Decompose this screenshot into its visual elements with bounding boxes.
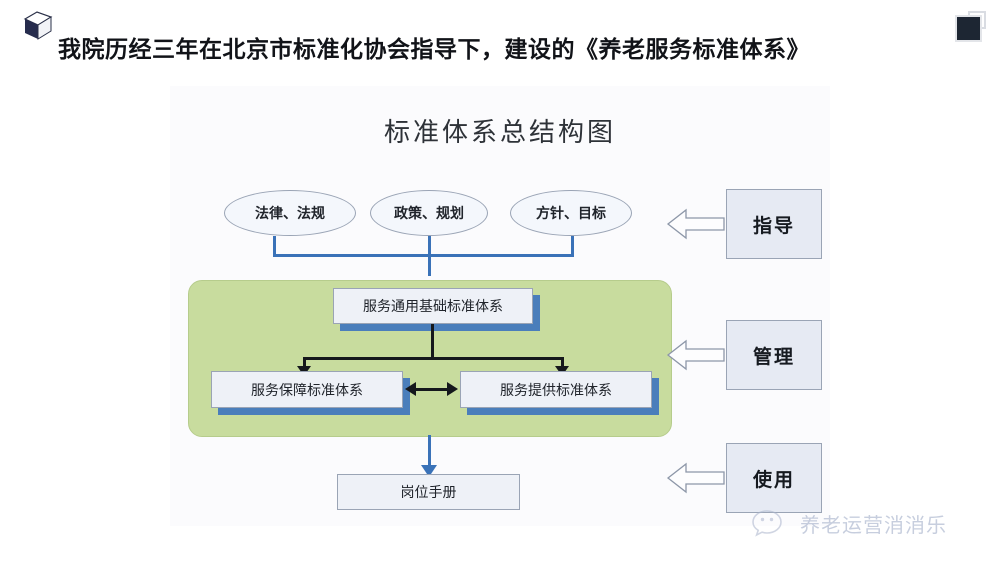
wechat-icon: [752, 508, 794, 538]
connector-bidirectional-line: [415, 388, 449, 391]
arrow-left-hollow-icon-guidance: [666, 204, 726, 244]
diagram-title: 标准体系总结构图: [0, 112, 1000, 149]
input-ellipse-laws[interactable]: 法律、法规: [224, 190, 356, 236]
connector-stub-policies: [428, 236, 431, 256]
slide-root: 我院历经三年在北京市标准化协会指导下，建设的《养老服务标准体系》 标准体系总结构…: [0, 0, 1000, 563]
arrow-left-hollow-icon-use: [666, 458, 726, 498]
connector-output-line: [428, 435, 431, 468]
arrow-left-right-black-icon-right: [447, 382, 458, 396]
input-ellipse-policies[interactable]: 政策、规划: [370, 190, 488, 236]
box-position-manual[interactable]: 岗位手册: [337, 474, 520, 510]
box-general-basic-standards[interactable]: 服务通用基础标准体系: [333, 288, 533, 324]
connector-bus-bar: [273, 254, 574, 257]
box-service-provision-standards[interactable]: 服务提供标准体系: [460, 371, 652, 408]
connector-bus-drop: [428, 254, 431, 276]
square-corner-mark-icon: [955, 11, 983, 39]
role-box-use[interactable]: 使用: [726, 443, 822, 513]
page-title: 我院历经三年在北京市标准化协会指导下，建设的《养老服务标准体系》: [58, 30, 810, 64]
arrow-left-hollow-icon-management: [666, 335, 726, 375]
slide-header: 我院历经三年在北京市标准化协会指导下，建设的《养老服务标准体系》: [0, 0, 1000, 78]
connector-tree-vertical: [431, 324, 434, 359]
connector-stub-laws: [273, 236, 276, 256]
connector-stub-guidelines: [571, 236, 574, 256]
connector-tree-horizontal: [303, 357, 564, 360]
input-ellipse-guidelines[interactable]: 方针、目标: [510, 190, 632, 236]
role-box-guidance[interactable]: 指导: [726, 189, 822, 259]
corner-filled-square: [955, 15, 982, 42]
role-box-management[interactable]: 管理: [726, 320, 822, 390]
watermark-text: 养老运营消消乐: [800, 509, 947, 538]
box-service-assurance-standards[interactable]: 服务保障标准体系: [211, 371, 403, 408]
cube-logo-icon: [20, 8, 56, 44]
arrow-left-right-black-icon-left: [405, 382, 416, 396]
watermark: 养老运营消消乐: [752, 508, 947, 538]
